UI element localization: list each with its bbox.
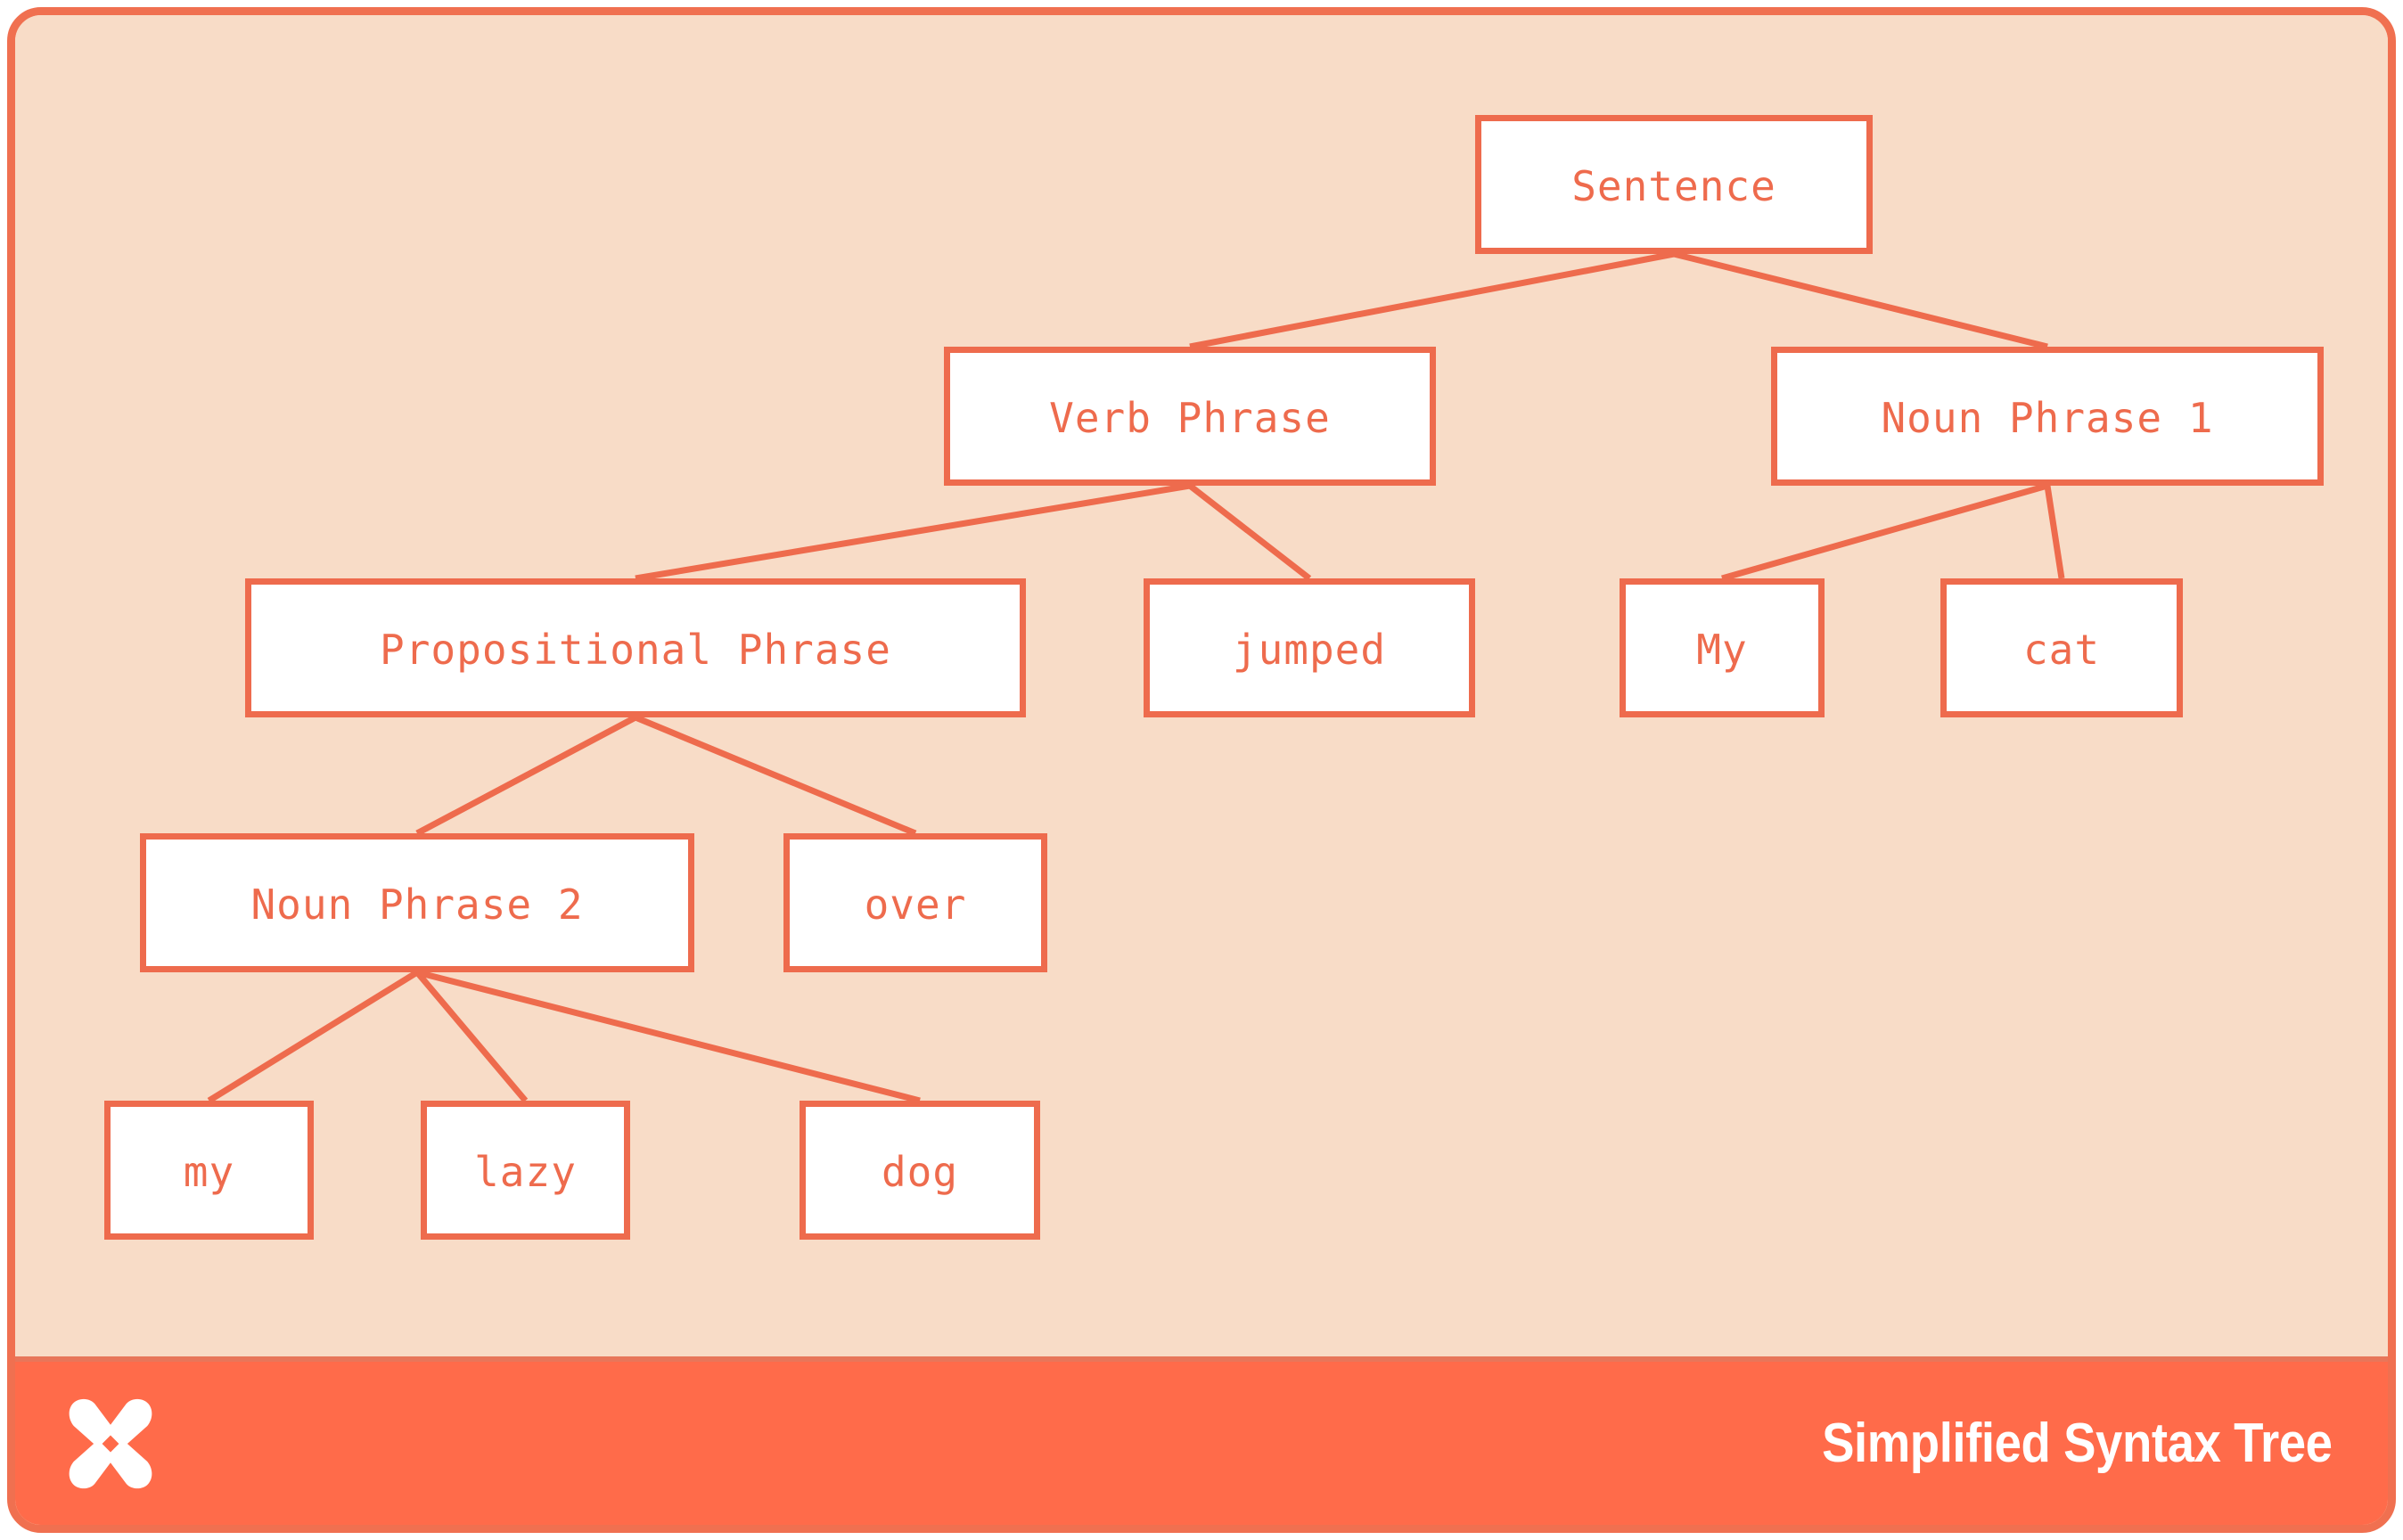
tree-node-over[interactable]: over: [787, 837, 1045, 970]
tree-node-lazy[interactable]: lazy: [424, 1104, 627, 1237]
node-label: Noun Phrase 2: [250, 881, 583, 929]
tree-edge-noun_phrase_2-to-my_lower: [209, 972, 418, 1101]
tree-node-noun_phrase_1[interactable]: Noun Phrase 1: [1775, 350, 2321, 483]
tree-edge-noun_phrase_2-to-lazy: [417, 972, 526, 1101]
tree-nodes: SentenceVerb PhraseNoun Phrase 1Proposit…: [108, 119, 2321, 1237]
tree-node-dog[interactable]: dog: [803, 1104, 1037, 1237]
tree-node-sentence[interactable]: Sentence: [1479, 119, 1870, 251]
tree-edge-propositional_phrase-to-noun_phrase_2: [417, 717, 636, 833]
footer-bar: Simplified Syntax Tree: [15, 1356, 2388, 1525]
screenshot-canvas: SentenceVerb PhraseNoun Phrase 1Proposit…: [0, 0, 2403, 1540]
tree-node-noun_phrase_2[interactable]: Noun Phrase 2: [144, 837, 692, 970]
node-label: my: [184, 1148, 234, 1196]
tree-edge-verb_phrase-to-propositional_phrase: [636, 486, 1190, 578]
node-label: Propositional Phrase: [380, 626, 891, 674]
tree-edge-noun_phrase_1-to-cat: [2047, 486, 2062, 578]
tree-node-jumped[interactable]: jumped: [1147, 582, 1472, 715]
footer-title: Simplified Syntax Tree: [1822, 1412, 2333, 1475]
node-label: cat: [2023, 626, 2100, 674]
node-label: over: [865, 881, 967, 929]
syntax-tree-diagram: SentenceVerb PhraseNoun Phrase 1Proposit…: [15, 15, 2388, 1365]
node-label: lazy: [474, 1148, 577, 1196]
node-label: jumped: [1233, 626, 1386, 674]
tree-node-propositional_phrase[interactable]: Propositional Phrase: [249, 582, 1023, 715]
node-label: dog: [882, 1148, 958, 1196]
diagram-card: SentenceVerb PhraseNoun Phrase 1Proposit…: [7, 7, 2396, 1533]
tree-edge-verb_phrase-to-jumped: [1190, 486, 1309, 578]
tree-node-verb_phrase[interactable]: Verb Phrase: [947, 350, 1433, 483]
node-label: Sentence: [1571, 162, 1776, 210]
butterfly-x-logo-icon: [58, 1391, 163, 1496]
tree-node-cat[interactable]: cat: [1944, 582, 2180, 715]
syntax-tree-svg: SentenceVerb PhraseNoun Phrase 1Proposit…: [15, 15, 2396, 1365]
tree-node-my_cap[interactable]: My: [1623, 582, 1822, 715]
tree-node-my_lower[interactable]: my: [108, 1104, 311, 1237]
tree-edge-noun_phrase_2-to-dog: [417, 972, 920, 1101]
tree-edge-sentence-to-verb_phrase: [1190, 254, 1674, 347]
tree-edge-sentence-to-noun_phrase_1: [1674, 254, 2047, 347]
node-label: My: [1696, 626, 1747, 674]
tree-edge-noun_phrase_1-to-my_cap: [1722, 486, 2047, 578]
node-label: Verb Phrase: [1049, 394, 1331, 442]
node-label: Noun Phrase 1: [1881, 394, 2213, 442]
tree-edge-propositional_phrase-to-over: [636, 717, 915, 833]
